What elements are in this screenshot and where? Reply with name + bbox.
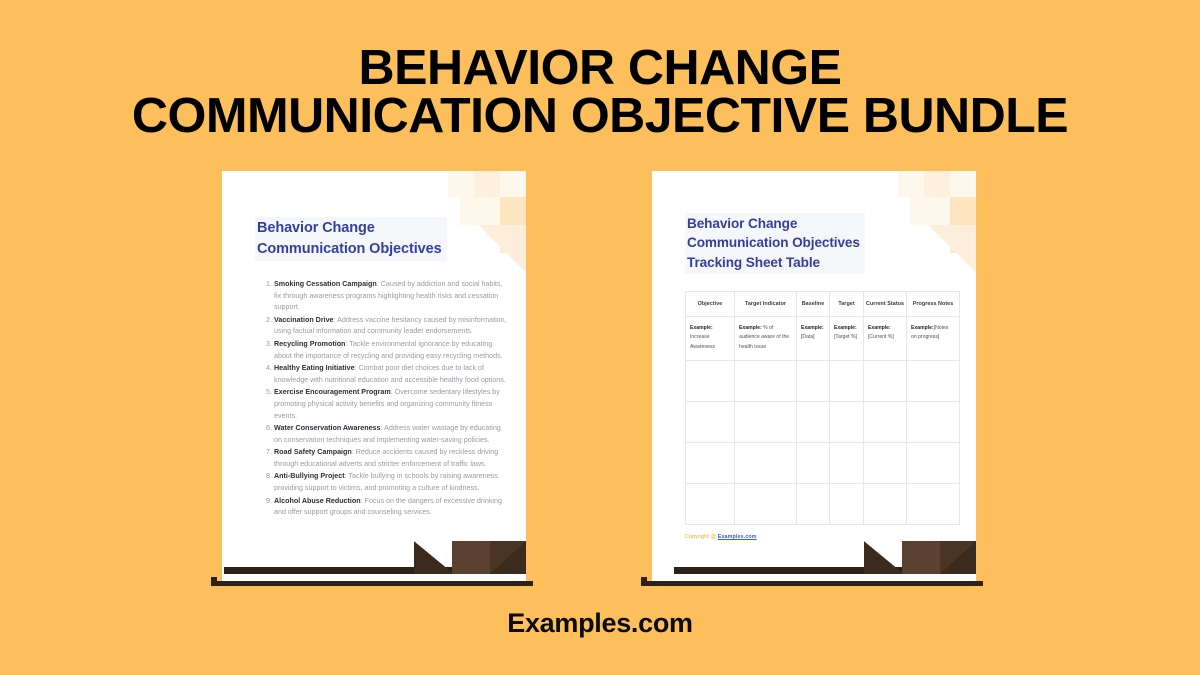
table-row[interactable] xyxy=(686,443,960,484)
cell-label: Example: xyxy=(690,325,713,331)
table-column-header: Target Indicator xyxy=(735,291,797,316)
table-column-header: Objective xyxy=(686,291,735,316)
objective-term: Water Conservation Awareness xyxy=(274,424,381,432)
left-accent-rule xyxy=(647,171,652,581)
copyright-prefix: Copyright @ xyxy=(685,534,718,540)
table-column-header: Progress Notes xyxy=(907,291,960,316)
cell-value: [Data] xyxy=(801,334,815,340)
page-title: BEHAVIOR CHANGE COMMUNICATION OBJECTIVE … xyxy=(0,44,1200,140)
page-one-heading: Behavior Change Communication Objectives xyxy=(255,217,447,261)
objective-term: Alcohol Abuse Reduction xyxy=(274,497,361,505)
objective-item: Water Conservation Awareness: Address wa… xyxy=(274,423,509,446)
page-one-heading-line-2: Communication Objectives xyxy=(257,241,442,257)
table-cell[interactable] xyxy=(797,361,830,402)
table-column-header: Current Status xyxy=(864,291,907,316)
banner-title-line-1: BEHAVIOR CHANGE xyxy=(0,44,1200,92)
table-cell[interactable] xyxy=(686,443,735,484)
table-cell[interactable] xyxy=(797,443,830,484)
table-cell[interactable]: Example: % of audience aware of the heal… xyxy=(735,316,797,360)
table-cell[interactable] xyxy=(735,484,797,525)
objective-item: Healthy Eating Initiative: Combat poor d… xyxy=(274,363,509,386)
cell-label: Example: xyxy=(868,325,891,331)
page-one-heading-line-1: Behavior Change xyxy=(257,220,375,236)
cell-label: Example: xyxy=(834,325,857,331)
objective-item: Exercise Encouragement Program: Overcome… xyxy=(274,387,509,422)
page-two-content: Behavior Change Communication Objectives… xyxy=(685,213,961,540)
table-cell[interactable] xyxy=(735,402,797,443)
objective-item: Recycling Promotion: Tackle environmenta… xyxy=(274,339,509,362)
table-cell[interactable] xyxy=(686,484,735,525)
cell-label: Example: xyxy=(801,325,824,331)
table-cell[interactable]: Example:[Data] xyxy=(797,316,830,360)
objective-term: Exercise Encouragement Program xyxy=(274,388,391,396)
table-cell[interactable] xyxy=(830,484,864,525)
objective-term: Vaccination Drive xyxy=(274,316,334,324)
table-cell[interactable] xyxy=(864,484,907,525)
banner-title-line-2: COMMUNICATION OBJECTIVE BUNDLE xyxy=(0,92,1200,140)
cell-value: Increase Awareness xyxy=(690,334,715,349)
left-accent-rule xyxy=(217,171,222,581)
objective-term: Anti-Bullying Project xyxy=(274,472,345,480)
objective-term: Healthy Eating Initiative xyxy=(274,364,355,372)
objective-item: Smoking Cessation Campaign: Caused by ad… xyxy=(274,279,509,314)
table-cell[interactable]: Example:[Notes on progress] xyxy=(907,316,960,360)
table-cell[interactable] xyxy=(864,443,907,484)
table-cell[interactable] xyxy=(864,402,907,443)
objective-item: Alcohol Abuse Reduction: Focus on the da… xyxy=(274,496,509,519)
page-two-heading-line-3: Tracking Sheet Table xyxy=(687,255,820,270)
table-cell[interactable] xyxy=(735,443,797,484)
table-cell[interactable]: Example:[Current %] xyxy=(864,316,907,360)
objectives-list: Smoking Cessation Campaign: Caused by ad… xyxy=(255,279,509,519)
table-body: Example: Increase AwarenessExample: % of… xyxy=(686,316,960,524)
table-cell[interactable] xyxy=(686,402,735,443)
page-two-heading-line-1: Behavior Change xyxy=(687,216,797,231)
objective-item: Road Safety Campaign: Reduce accidents c… xyxy=(274,447,509,470)
page-one-content: Behavior Change Communication Objectives… xyxy=(255,217,509,520)
cell-value: [Current %] xyxy=(868,334,894,340)
brand-footer: Examples.com xyxy=(0,608,1200,639)
table-cell[interactable] xyxy=(797,484,830,525)
page-two-heading-line-2: Communication Objectives xyxy=(687,235,860,250)
table-cell[interactable]: Example:[Target %] xyxy=(830,316,864,360)
table-cell[interactable] xyxy=(907,443,960,484)
cell-value: [Target %] xyxy=(834,334,857,340)
table-row[interactable] xyxy=(686,402,960,443)
table-row[interactable] xyxy=(686,484,960,525)
cell-label: Example: xyxy=(911,325,934,331)
objective-term: Recycling Promotion xyxy=(274,340,345,348)
bottom-corner-decoration xyxy=(414,534,526,574)
cell-label: Example: xyxy=(739,325,762,331)
table-header-row: ObjectiveTarget IndicatorBaselineTargetC… xyxy=(686,291,960,316)
table-cell[interactable]: Example: Increase Awareness xyxy=(686,316,735,360)
objective-term: Road Safety Campaign xyxy=(274,448,352,456)
table-cell[interactable] xyxy=(830,443,864,484)
table-cell[interactable] xyxy=(864,361,907,402)
table-cell[interactable] xyxy=(907,402,960,443)
table-cell[interactable] xyxy=(907,484,960,525)
page-two-heading: Behavior Change Communication Objectives… xyxy=(685,213,865,274)
table-cell[interactable] xyxy=(907,361,960,402)
table-row[interactable] xyxy=(686,361,960,402)
right-accent-rule xyxy=(526,171,533,581)
table-cell[interactable] xyxy=(830,402,864,443)
table-cell[interactable] xyxy=(686,361,735,402)
objective-term: Smoking Cessation Campaign xyxy=(274,280,377,288)
objective-item: Anti-Bullying Project: Tackle bullying i… xyxy=(274,471,509,494)
table-cell[interactable] xyxy=(735,361,797,402)
document-preview-page-one[interactable]: Behavior Change Communication Objectives… xyxy=(217,171,533,581)
bottom-corner-decoration xyxy=(864,534,976,574)
objective-item: Vaccination Drive: Address vaccine hesit… xyxy=(274,315,509,338)
copyright-link[interactable]: Examples.com xyxy=(718,534,757,540)
right-accent-rule xyxy=(976,171,983,581)
document-preview-page-two[interactable]: Behavior Change Communication Objectives… xyxy=(647,171,983,581)
tracking-sheet-table[interactable]: ObjectiveTarget IndicatorBaselineTargetC… xyxy=(685,291,960,525)
table-cell[interactable] xyxy=(830,361,864,402)
table-column-header: Target xyxy=(830,291,864,316)
table-column-header: Baseline xyxy=(797,291,830,316)
table-cell[interactable] xyxy=(797,402,830,443)
table-row[interactable]: Example: Increase AwarenessExample: % of… xyxy=(686,316,960,360)
